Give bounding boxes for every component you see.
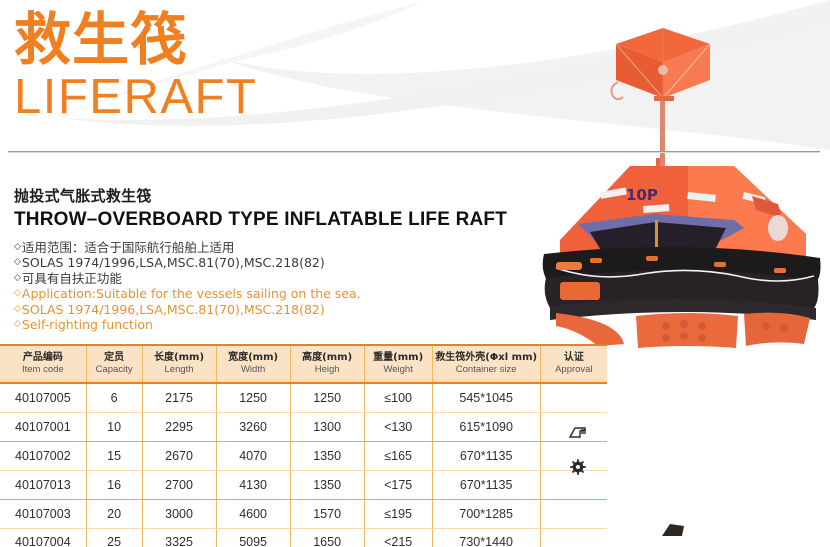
cell-container-size: 545*1045	[432, 383, 540, 412]
feature-bullet-text: 可具有自扶正功能	[22, 271, 122, 286]
cell-length: 2295	[142, 412, 216, 441]
table-body: 401070056217512501250≤100545*10454010700…	[0, 383, 607, 547]
feature-bullet-text: SOLAS 1974/1996,LSA,MSC.81(70),MSC.218(8…	[22, 255, 325, 270]
page-title-en: LIFERAFT	[14, 70, 257, 124]
table-row: 4010700320300046001570≤195700*1285	[0, 499, 607, 528]
cell-container-size: 700*1285	[432, 499, 540, 528]
cell-capacity: 6	[86, 383, 142, 412]
cell-item-code: 40107013	[0, 470, 86, 499]
cell-approval	[540, 499, 607, 528]
table-row: 401070056217512501250≤100545*1045	[0, 383, 607, 412]
raft-ballast-pocket-right	[744, 313, 810, 346]
page-title-cn: 救生筏	[14, 8, 257, 72]
specification-table: 产品编码Item code定员Capacity长度(mm)Length宽度(mm…	[0, 344, 607, 547]
cell-item-code: 40107002	[0, 441, 86, 470]
column-header-cn: 长度(mm)	[145, 351, 214, 364]
canopy-svg	[594, 22, 734, 172]
cell-approval	[540, 383, 607, 412]
column-header-cn: 高度(mm)	[293, 351, 362, 364]
column-header: 认证Approval	[540, 345, 607, 383]
inflatable-liferaft-photo: 10P	[538, 158, 830, 363]
title-divider	[8, 151, 820, 153]
cell-capacity: 25	[86, 528, 142, 547]
bottom-image-fragment	[660, 520, 692, 543]
bottom-fragment-svg	[660, 520, 692, 538]
column-header: 宽度(mm)Width	[216, 345, 290, 383]
column-header-cn: 产品编码	[2, 351, 84, 364]
product-name-en: THROW–OVERBOARD TYPE INFLATABLE LIFE RAF…	[14, 208, 507, 232]
column-header-en: Container size	[435, 364, 538, 376]
feature-bullet-text: SOLAS 1974/1996,LSA,MSC.81(70),MSC.218(8…	[22, 302, 325, 317]
cell-weight: <175	[364, 470, 432, 499]
raft-ballast-pocket-left	[556, 313, 624, 346]
cell-width: 4600	[216, 499, 290, 528]
feature-bullet: ◇SOLAS 1974/1996,LSA,MSC.81(70),MSC.218(…	[14, 255, 361, 270]
cell-item-code: 40107001	[0, 412, 86, 441]
column-header: 救生筏外壳(Φxl mm)Container size	[432, 345, 540, 383]
feature-bullet-text: Application:Suitable for the vessels sai…	[22, 286, 361, 301]
raft-boarding-strap	[556, 262, 582, 270]
product-name-cn: 抛投式气胀式救生筏	[14, 186, 507, 206]
cell-weight: ≤195	[364, 499, 432, 528]
table-header-row: 产品编码Item code定员Capacity长度(mm)Length宽度(mm…	[0, 345, 607, 383]
cell-width: 4130	[216, 470, 290, 499]
cell-height: 1250	[290, 383, 364, 412]
column-header-en: Item code	[2, 364, 84, 376]
column-header-en: Length	[145, 364, 214, 376]
column-header-en: Approval	[543, 364, 605, 376]
wheelmark-certification-mark	[570, 459, 586, 475]
cell-weight: ≤165	[364, 441, 432, 470]
raft-ballast-pocket-center	[636, 313, 738, 348]
column-header-cn: 认证	[543, 351, 605, 364]
cell-height: 1350	[290, 470, 364, 499]
cell-capacity: 20	[86, 499, 142, 528]
cell-container-size: 730*1440	[432, 528, 540, 547]
cell-length: 3000	[142, 499, 216, 528]
table-row: 4010700425332550951650<215730*1440	[0, 528, 607, 547]
ccs-certification-mark	[568, 425, 588, 441]
cell-weight: <215	[364, 528, 432, 547]
diamond-bullet-icon: ◇	[14, 286, 21, 301]
column-header-cn: 宽度(mm)	[219, 351, 288, 364]
cell-height: 1300	[290, 412, 364, 441]
cell-height: 1650	[290, 528, 364, 547]
feature-bullet-text: 适用范围：适合于国际航行船舶上适用	[22, 240, 235, 255]
canopy-collar	[654, 96, 674, 101]
feature-bullet: ◇适用范围：适合于国际航行船舶上适用	[14, 240, 361, 255]
swoosh-shape-upper	[190, 0, 830, 150]
cell-length: 2670	[142, 441, 216, 470]
cell-width: 3260	[216, 412, 290, 441]
cell-length: 2700	[142, 470, 216, 499]
column-header-en: Capacity	[89, 364, 140, 376]
feature-bullet: ◇Self-righting function	[14, 317, 361, 332]
cell-container-size: 615*1090	[432, 412, 540, 441]
column-header-cn: 救生筏外壳(Φxl mm)	[435, 351, 538, 364]
cell-item-code: 40107004	[0, 528, 86, 547]
column-header-cn: 重量(mm)	[367, 351, 430, 364]
diamond-bullet-icon: ◇	[14, 255, 21, 270]
feature-bullet: ◇Application:Suitable for the vessels sa…	[14, 286, 361, 301]
cell-capacity: 10	[86, 412, 142, 441]
diamond-bullet-icon: ◇	[14, 317, 21, 332]
cell-width: 5095	[216, 528, 290, 547]
cell-width: 4070	[216, 441, 290, 470]
feature-bullet: ◇SOLAS 1974/1996,LSA,MSC.81(70),MSC.218(…	[14, 302, 361, 317]
cell-approval	[540, 528, 607, 547]
table-header: 产品编码Item code定员Capacity长度(mm)Length宽度(mm…	[0, 345, 607, 383]
raft-capacity-label: 10P	[626, 186, 658, 204]
cell-item-code: 40107003	[0, 499, 86, 528]
diamond-bullet-icon: ◇	[14, 271, 21, 286]
column-header-en: Weight	[367, 364, 430, 376]
liferaft-svg: 10P	[538, 158, 830, 358]
column-header: 重量(mm)Weight	[364, 345, 432, 383]
raft-id-placard	[560, 282, 600, 300]
liferaft-canopy-photo	[594, 22, 734, 177]
cell-height: 1570	[290, 499, 364, 528]
approval-marks-group	[548, 425, 608, 493]
diamond-bullet-icon: ◇	[14, 240, 21, 255]
canopy-emblem	[658, 65, 668, 75]
table-row: 4010700110229532601300<130615*1090	[0, 412, 607, 441]
liferaft-product-page: 救生筏 LIFERAFT 10P	[0, 0, 830, 547]
table-row: 4010701316270041301350<175670*1135	[0, 470, 607, 499]
column-header: 高度(mm)Heigh	[290, 345, 364, 383]
cell-width: 1250	[216, 383, 290, 412]
cell-container-size: 670*1135	[432, 470, 540, 499]
column-header: 定员Capacity	[86, 345, 142, 383]
cell-height: 1350	[290, 441, 364, 470]
page-title-block: 救生筏 LIFERAFT	[14, 8, 257, 124]
raft-logo-patch	[768, 215, 788, 241]
feature-bullet: ◇可具有自扶正功能	[14, 271, 361, 286]
cell-weight: ≤100	[364, 383, 432, 412]
column-header: 长度(mm)Length	[142, 345, 216, 383]
cell-capacity: 16	[86, 470, 142, 499]
cell-item-code: 40107005	[0, 383, 86, 412]
canopy-handle-loop	[611, 82, 623, 99]
product-heading: 抛投式气胀式救生筏 THROW–OVERBOARD TYPE INFLATABL…	[14, 186, 507, 232]
feature-bullet-list: ◇适用范围：适合于国际航行船舶上适用◇SOLAS 1974/1996,LSA,M…	[14, 240, 361, 332]
column-header-en: Width	[219, 364, 288, 376]
feature-bullet-text: Self-righting function	[22, 317, 153, 332]
cell-capacity: 15	[86, 441, 142, 470]
table-row: 4010700215267040701350≤165670*1135	[0, 441, 607, 470]
cell-length: 2175	[142, 383, 216, 412]
cell-length: 3325	[142, 528, 216, 547]
column-header: 产品编码Item code	[0, 345, 86, 383]
cell-container-size: 670*1135	[432, 441, 540, 470]
diamond-bullet-icon: ◇	[14, 302, 21, 317]
column-header-en: Heigh	[293, 364, 362, 376]
column-header-cn: 定员	[89, 351, 140, 364]
cell-weight: <130	[364, 412, 432, 441]
